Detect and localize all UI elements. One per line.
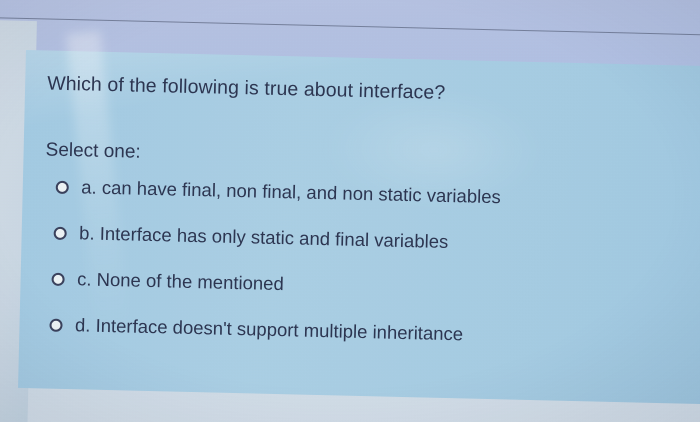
radio-button-a-icon[interactable] — [55, 181, 68, 194]
photographed-screen: Which of the following is true about int… — [0, 0, 700, 422]
select-one-label: Select one: — [45, 139, 695, 176]
question-stem: Which of the following is true about int… — [47, 73, 697, 111]
radio-button-c-icon[interactable] — [51, 273, 64, 286]
answer-options-list: a. can have final, non final, and non st… — [41, 175, 695, 374]
radio-button-b-icon[interactable] — [53, 227, 66, 240]
radio-button-d-icon[interactable] — [49, 319, 62, 332]
answer-option-a-label: a. can have final, non final, and non st… — [81, 176, 501, 208]
answer-option-c-label: c. None of the mentioned — [77, 268, 284, 295]
question-content: Which of the following is true about int… — [40, 73, 697, 391]
question-panel: Which of the following is true about int… — [18, 50, 700, 405]
